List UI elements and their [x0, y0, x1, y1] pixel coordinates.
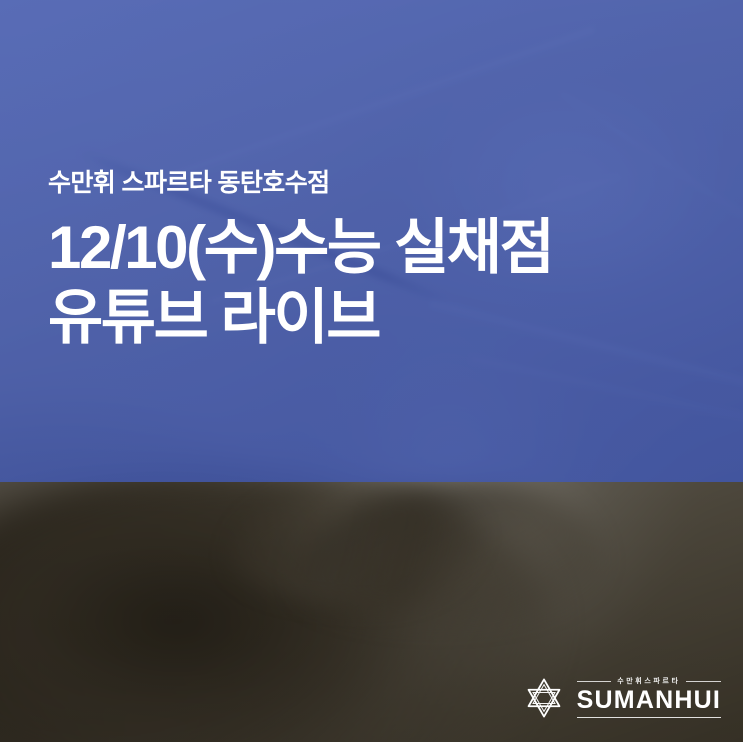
logo-wordmark: SUMANHUI — [577, 688, 721, 713]
page-title: 12/10(수)수능 실채점 유튜브 라이브 — [48, 213, 708, 352]
branch-subtitle: 수만휘 스파르타 동탄호수점 — [48, 168, 708, 199]
hexagram-star-icon — [522, 676, 566, 720]
logo-korean-tagline: 수만휘스파르타 — [577, 678, 721, 685]
logo-text-block: 수만휘스파르타 SUMANHUI — [577, 678, 721, 718]
poster-canvas: 수만휘 스파르타 동탄호수점 12/10(수)수능 실채점 유튜브 라이브 수만… — [0, 0, 743, 742]
headline-line-2: 유튜브 라이브 — [48, 283, 708, 353]
logo-underline — [577, 717, 721, 718]
brand-logo: 수만휘스파르타 SUMANHUI — [522, 676, 721, 720]
headline-block: 수만휘 스파르타 동탄호수점 12/10(수)수능 실채점 유튜브 라이브 — [48, 168, 708, 352]
headline-line-1: 12/10(수)수능 실채점 — [48, 213, 708, 283]
